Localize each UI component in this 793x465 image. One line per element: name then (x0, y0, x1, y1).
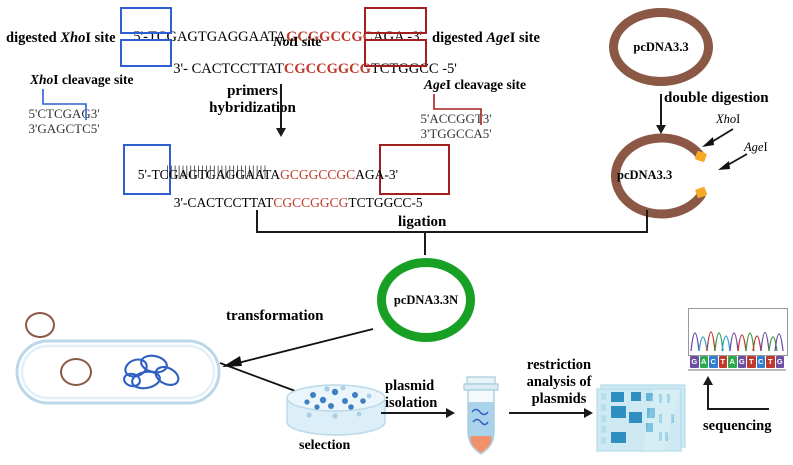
duplex-bottom-strand: 3'-CACTCCTTATCGCCGGCGTCTGGCC-5 (167, 179, 423, 211)
duplex-bottom-noti-site: CGCCGGCG (273, 195, 348, 210)
microcentrifuge-tube (458, 374, 504, 460)
xhoi-sticky-box-top (120, 7, 172, 34)
basecall-letter: T (747, 356, 756, 368)
agei-sticky-box-bottom (364, 39, 427, 67)
petri-dish (283, 382, 389, 438)
restriction-arrow-shaft (509, 412, 585, 414)
basecall-letter: G (776, 356, 785, 368)
digested-agei-site-label: digested AgeI site (432, 30, 540, 46)
ligation-bracket-left-stem (256, 210, 258, 232)
agei-cleavage-title-rest: I cleavage site (446, 77, 526, 92)
sequencing-label: sequencing (703, 418, 772, 434)
agei-cleavage-bottom-left: 3'TGGCC (421, 126, 474, 141)
plasmid-agei-suffix: I (763, 140, 767, 154)
chromatogram-panel (688, 308, 788, 356)
agei-cut-marker-icon (431, 93, 487, 127)
double-digestion-label: double digestion (664, 90, 769, 107)
plasmid-isolation-line1: plasmid (385, 378, 437, 395)
transformation-label: transformation (226, 308, 324, 325)
ligation-label: ligation (392, 214, 452, 231)
plasmid-xhoi-italic: Xho (716, 112, 736, 126)
basecall-letter: C (757, 356, 766, 368)
chromatogram-traces (689, 309, 785, 353)
agei-cleavage-site-title: AgeI cleavage site (424, 77, 526, 92)
xhoi-cleavage-title-rest: I cleavage site (53, 72, 133, 87)
basecall-letter: A (728, 356, 737, 368)
sequencing-arrow-head-icon (703, 376, 713, 385)
plasmid-inside-bacteria-icon (60, 358, 92, 386)
agei-site-suffix: I site (510, 30, 540, 46)
ligation-bracket-right-stem (646, 210, 648, 232)
agei-pointer-arrow-icon (716, 152, 750, 172)
agei-sticky-box-top (364, 7, 427, 34)
agei-cleavage-enzyme: Age (424, 77, 446, 92)
primers-hybridization-line2: hybridization (195, 100, 310, 117)
ligation-arrow-shaft (424, 231, 426, 255)
plasmid-isolation-arrow-head-icon (446, 408, 455, 418)
plasmid-ligated-label: pcDNA3.3N (394, 293, 458, 308)
plasmid-xhoi-site-label: XhoI (716, 112, 740, 126)
hybridization-arrow-head-icon (276, 128, 286, 137)
digested-agei-prefix: digested (432, 30, 486, 46)
plasmid-isolation-label: plasmid isolation (385, 378, 437, 412)
ligation-bracket-horizontal (256, 231, 648, 233)
sequencing-arrow-vertical (707, 384, 709, 409)
bottom-strand-noti-site: CGCCGGCG (284, 61, 371, 77)
plasmid-isolation-arrow-shaft (381, 412, 447, 414)
bottom-strand-3prime: 3'- (173, 61, 191, 77)
duplex-bottom-spacer: TC (348, 195, 365, 210)
sequencing-arrow-horizontal (707, 408, 769, 410)
xhoi-cleavage-bottom-right: C5' (82, 121, 100, 136)
double-digestion-text: double digestion (664, 90, 769, 106)
plasmid-digested-label: pcDNA3.3 (617, 168, 672, 183)
basecall-letter: C (709, 356, 718, 368)
xhoi-cut-marker-icon (40, 88, 92, 122)
primers-hybridization-line1: primers (195, 83, 310, 100)
duplex-bottom-sticky: TGGCC-5 (366, 195, 423, 210)
agei-enzyme-name: Age (486, 30, 509, 46)
duplex-bottom-mid: ACTCCTTAT (196, 195, 273, 210)
hybridization-arrow-shaft (280, 84, 282, 130)
plasmid-isolation-line2: isolation (385, 395, 437, 412)
basecall-letter: T (719, 356, 728, 368)
free-plasmid-outside-icon (25, 312, 55, 338)
restriction-line1: restriction (509, 357, 609, 374)
basecall-baseline (688, 369, 786, 371)
primers-hybridization-label: primers hybridization (195, 83, 310, 117)
double-digestion-arrow-shaft (660, 94, 662, 127)
digested-xhoi-prefix: digested (6, 30, 60, 46)
xhoi-pointer-arrow-icon (700, 126, 736, 148)
basecall-letter: G (738, 356, 747, 368)
basecall-letter: G (690, 356, 699, 368)
xhoi-cleavage-site-title: XhoI cleavage site (30, 72, 134, 87)
bottom-strand-5prime: -5' (439, 61, 457, 77)
duplex-base-pair-bonds: |||||||||||||||||||||||||| (166, 163, 267, 179)
basecall-strip: GACTAGTCTG (690, 356, 784, 368)
plasmid-xhoi-suffix: I (736, 112, 740, 126)
xhoi-sticky-box-bottom (120, 39, 172, 67)
xhoi-enzyme-name: Xho (60, 30, 85, 46)
restriction-arrow-head-icon (584, 408, 593, 418)
xhoi-site-suffix: I site (85, 30, 115, 46)
duplex-bottom-3prime: 3'-C (174, 195, 197, 210)
agei-cleavage-bottom-right: A5' (473, 126, 491, 141)
basecall-letter: A (700, 356, 709, 368)
bottom-strand-lead: C (192, 61, 202, 77)
plasmid-intact: pcDNA3.3 (609, 8, 713, 86)
electrophoresis-gel (593, 382, 689, 454)
duplex-top-5prime: 5'- (138, 167, 152, 182)
xhoi-cleavage-bottom-left: 3'GAGCT (29, 121, 83, 136)
genomic-dna-tangle-icon (120, 352, 186, 394)
basecall-letter: T (766, 356, 775, 368)
selection-label: selection (299, 438, 350, 454)
bacterial-cell (14, 338, 222, 406)
bottom-strand-mid: ACTCCTTAT (201, 61, 284, 77)
plasmid-intact-label: pcDNA3.3 (633, 40, 688, 55)
xhoi-cleavage-enzyme: Xho (30, 72, 53, 87)
plasmid-ligated: pcDNA3.3N (377, 258, 475, 342)
digested-xhoi-site-label: digested XhoI site (6, 30, 116, 46)
